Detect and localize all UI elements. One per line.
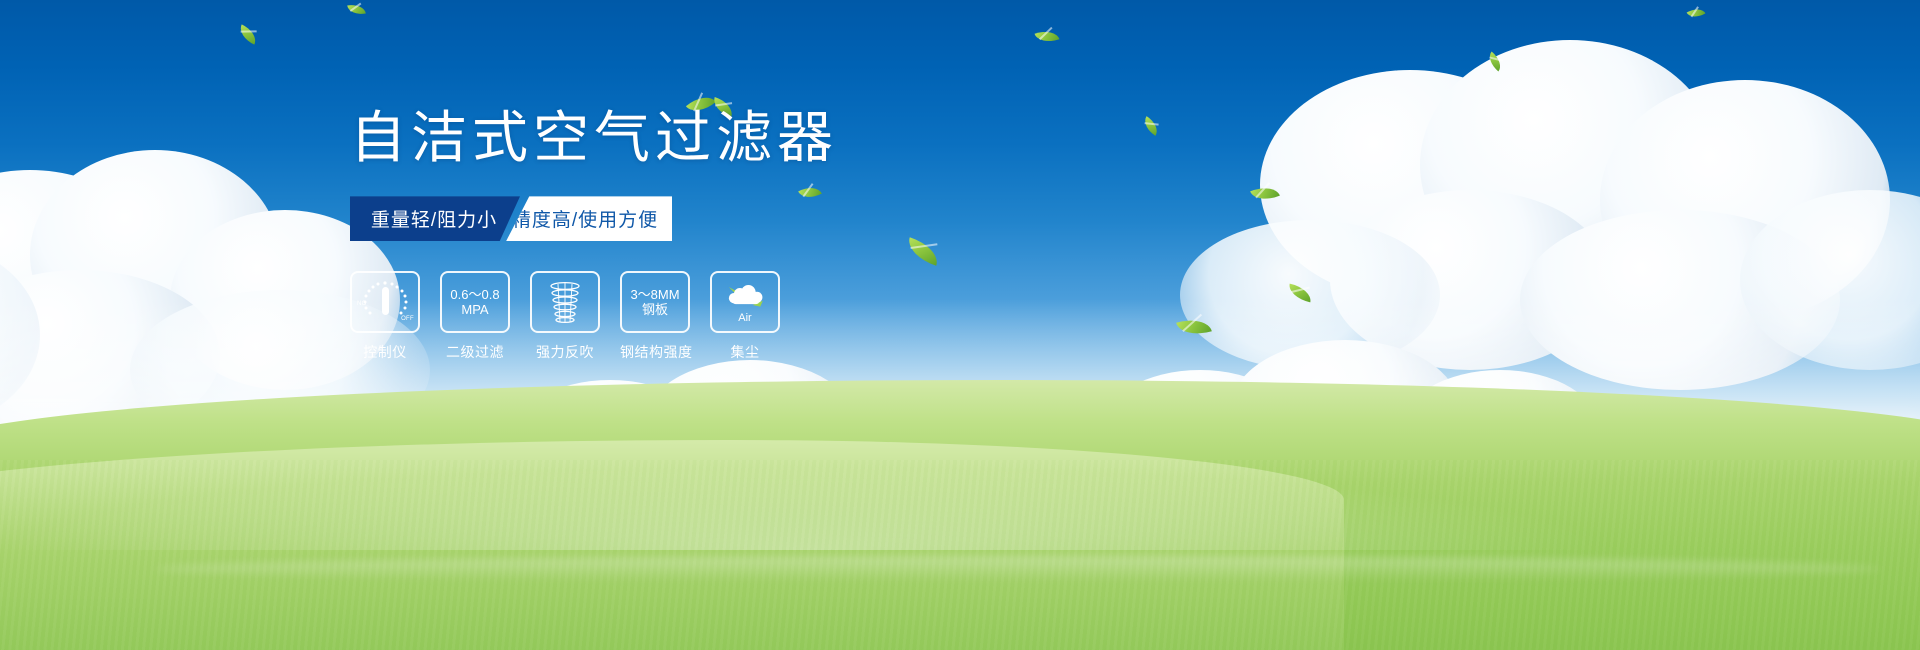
feature-dust-collection-label: 集尘 — [710, 342, 780, 362]
feature-steel-strength-box: 3～8MM 钢板 — [620, 271, 690, 333]
leaf-icon — [1140, 116, 1162, 136]
feature-steel-strength-label: 钢结构强度 — [620, 342, 690, 362]
feature-steel-strength: 3～8MM 钢板 钢结构强度 — [620, 271, 690, 362]
badge-weight-resistance: 重量轻/阻力小 — [350, 196, 520, 241]
feature-dust-collection: Air 集尘 — [710, 271, 780, 362]
feature-strong-blowback: 强力反吹 — [530, 271, 600, 362]
feature-two-stage-filtration: 0.6～0.8 MPA 二级过滤 — [440, 271, 510, 362]
feature-two-stage-filtration-box: 0.6～0.8 MPA — [440, 271, 510, 333]
feature-pressure-value: 0.6～0.8 — [450, 287, 499, 303]
feature-strong-blowback-box — [530, 271, 600, 333]
feature-steel-thickness: 3～8MM — [630, 287, 679, 303]
feature-pressure-unit: MPA — [461, 302, 488, 318]
leaf-icon — [1485, 52, 1506, 72]
leaf-icon — [1035, 27, 1060, 46]
hero-banner: 自洁式空气过滤器 重量轻/阻力小 精度高/使用方便 — [0, 0, 1920, 650]
feature-two-stage-filtration-label: 二级过滤 — [440, 342, 510, 362]
feature-strong-blowback-label: 强力反吹 — [530, 342, 600, 362]
feature-controller: NO OFF 控制仪 — [350, 271, 420, 362]
badge-precision-convenience: 精度高/使用方便 — [506, 196, 672, 241]
feature-steel-material: 钢板 — [642, 302, 668, 318]
cloud-right — [1220, 40, 1920, 380]
leaf-icon — [236, 24, 260, 44]
leaf-icon — [347, 3, 366, 17]
leaf-icon — [1176, 314, 1212, 340]
gauge-icon: NO OFF — [359, 280, 411, 324]
banner-content: 自洁式空气过滤器 重量轻/阻力小 精度高/使用方便 — [350, 104, 1070, 362]
feature-dust-collection-box: Air — [710, 271, 780, 333]
badge-group: 重量轻/阻力小 精度高/使用方便 — [350, 196, 672, 241]
cloud-air-icon: Air — [717, 282, 773, 322]
gauge-needle-icon — [382, 287, 389, 315]
grass-field-front — [0, 440, 1344, 650]
page-title: 自洁式空气过滤器 — [350, 104, 1070, 172]
feature-list: NO OFF 控制仪 0.6～0.8 MPA 二级过滤 — [350, 271, 1070, 362]
filter-cartridge-icon — [545, 280, 585, 324]
leaf-icon — [1250, 182, 1280, 206]
feature-controller-box: NO OFF — [350, 271, 420, 333]
air-label: Air — [717, 312, 773, 324]
feature-controller-label: 控制仪 — [350, 342, 420, 362]
gauge-label-no: NO — [357, 301, 367, 307]
gauge-label-off: OFF — [401, 316, 414, 322]
leaf-icon — [1287, 284, 1313, 303]
leaf-icon — [1687, 5, 1706, 22]
cloud-shape-icon — [717, 282, 773, 316]
